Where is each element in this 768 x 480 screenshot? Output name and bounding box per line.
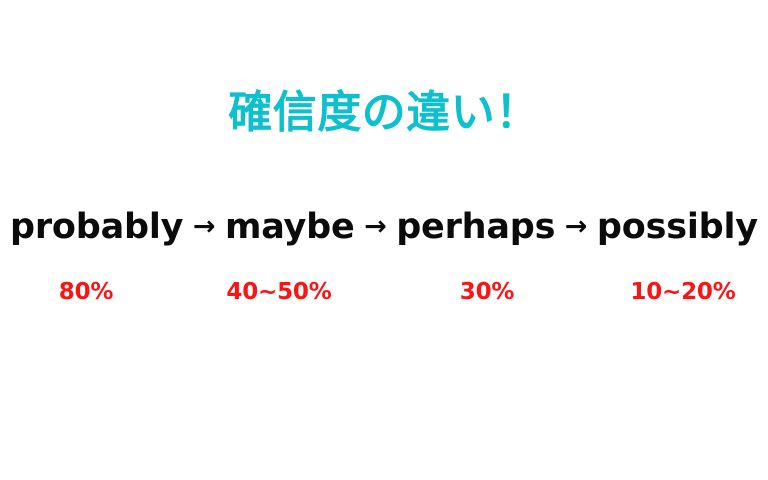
confidence-percent-probably: 80% [59,277,113,307]
confidence-percent-row: 80% 40~50% 30% 10~20% [0,277,768,311]
confidence-percent-possibly: 10~20% [630,277,735,307]
page-title: 確信度の違い！ [0,86,768,140]
confidence-percent-perhaps: 30% [460,277,514,307]
confidence-word-maybe: maybe [225,204,355,250]
right-arrow-icon: → [191,204,218,250]
confidence-word-perhaps: perhaps [396,204,555,250]
slide-canvas: 確信度の違い！ probably → maybe → perhaps → pos… [0,0,768,480]
confidence-percent-maybe: 40~50% [226,277,331,307]
confidence-word-probably: probably [10,204,183,250]
confidence-scale: probably → maybe → perhaps → possibly 80… [0,204,768,311]
right-arrow-icon: → [362,204,389,250]
right-arrow-icon: → [563,204,590,250]
confidence-word-possibly: possibly [597,204,758,250]
confidence-word-row: probably → maybe → perhaps → possibly [6,204,762,253]
